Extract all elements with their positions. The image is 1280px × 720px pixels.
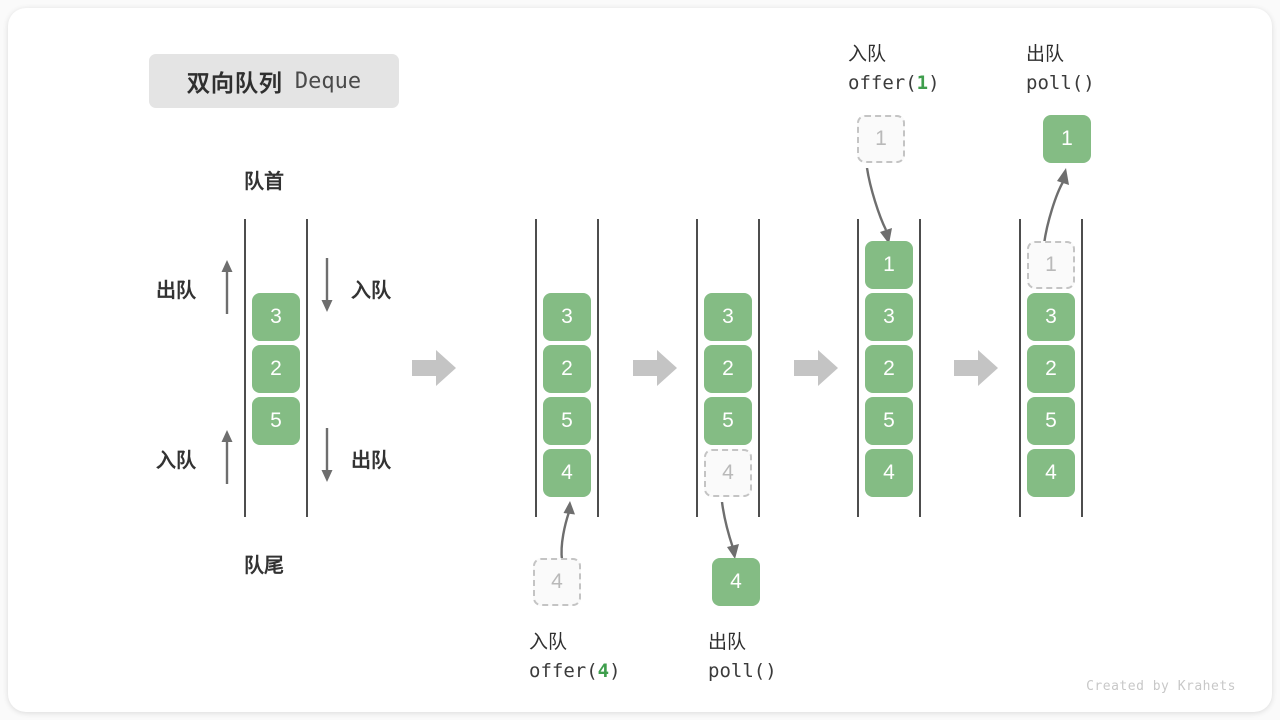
container-wall-left bbox=[696, 219, 698, 517]
container-wall-right bbox=[1081, 219, 1083, 517]
arrow-up-enqueue-tail bbox=[217, 428, 237, 489]
title-english: Deque bbox=[295, 69, 361, 94]
deque-element: 5 bbox=[543, 397, 591, 445]
deque-element: 5 bbox=[704, 397, 752, 445]
step-connector-arrow bbox=[794, 350, 838, 386]
deque-element: 5 bbox=[1027, 397, 1075, 445]
deque-element: 2 bbox=[543, 345, 591, 393]
operation-label-offer-1: 入队 offer(1) bbox=[848, 40, 940, 99]
operation-code-number: 1 bbox=[917, 72, 928, 94]
operation-label-code: poll() bbox=[708, 657, 777, 686]
operation-label-cn: 出队 bbox=[1026, 40, 1095, 69]
deque-element: 3 bbox=[1027, 293, 1075, 341]
deque-element: 4 bbox=[543, 449, 591, 497]
operation-code-prefix: offer( bbox=[848, 72, 917, 94]
arrow-down-enqueue-head bbox=[317, 258, 337, 319]
operation-label-poll-tail: 出队 poll() bbox=[708, 628, 777, 687]
deque-element: 3 bbox=[865, 293, 913, 341]
operation-code-number: 4 bbox=[598, 660, 609, 682]
arrow-up-dequeue-head bbox=[217, 258, 237, 319]
operation-label-code: offer(4) bbox=[529, 657, 621, 686]
deque-element: 2 bbox=[1027, 345, 1075, 393]
title-badge: 双向队列 Deque bbox=[149, 54, 399, 108]
enqueue-tail-label: 入队 bbox=[156, 444, 196, 473]
step-connector-arrow bbox=[954, 350, 998, 386]
operation-code-suffix: ) bbox=[609, 660, 620, 682]
arrow-offer-4-into-tail bbox=[538, 500, 588, 567]
title-chinese: 双向队列 bbox=[187, 64, 283, 98]
operation-label-poll-head: 出队 poll() bbox=[1026, 40, 1095, 99]
container-wall-left bbox=[857, 219, 859, 517]
deque-element: 5 bbox=[865, 397, 913, 445]
operation-code-suffix: ) bbox=[765, 660, 776, 682]
external-element-ghost: 1 bbox=[857, 115, 905, 163]
external-element-ghost: 4 bbox=[533, 558, 581, 606]
container-wall-left bbox=[535, 219, 537, 517]
deque-element: 4 bbox=[865, 449, 913, 497]
deque-element: 3 bbox=[704, 293, 752, 341]
operation-code-prefix: offer( bbox=[529, 660, 598, 682]
dequeue-tail-label: 出队 bbox=[351, 444, 391, 473]
operation-label-offer-4: 入队 offer(4) bbox=[529, 628, 621, 687]
step-connector-arrow bbox=[633, 350, 677, 386]
deque-element: 2 bbox=[704, 345, 752, 393]
container-wall-left bbox=[244, 219, 246, 517]
deque-element: 4 bbox=[1027, 449, 1075, 497]
deque-element: 5 bbox=[252, 397, 300, 445]
operation-label-code: poll() bbox=[1026, 69, 1095, 98]
head-label: 队首 bbox=[244, 165, 284, 194]
diagram-stage: 双向队列 Deque 队首 队尾 3 2 5 出队 入队 入队 出队 bbox=[8, 8, 1272, 712]
operation-label-cn: 出队 bbox=[708, 628, 777, 657]
operation-code-suffix: ) bbox=[1083, 72, 1094, 94]
container-wall-right bbox=[758, 219, 760, 517]
deque-element: 3 bbox=[252, 293, 300, 341]
arrow-down-dequeue-tail bbox=[317, 428, 337, 489]
step-connector-arrow bbox=[412, 350, 456, 386]
container-wall-right bbox=[597, 219, 599, 517]
operation-label-cn: 入队 bbox=[529, 628, 621, 657]
external-element: 4 bbox=[712, 558, 760, 606]
diagram-card: 双向队列 Deque 队首 队尾 3 2 5 出队 入队 入队 出队 bbox=[8, 8, 1272, 712]
arrow-poll-tail-out bbox=[710, 502, 760, 565]
tail-label: 队尾 bbox=[244, 549, 284, 578]
deque-element-ghost: 1 bbox=[1027, 241, 1075, 289]
container-wall-right bbox=[306, 219, 308, 517]
deque-element: 3 bbox=[543, 293, 591, 341]
dequeue-head-label: 出队 bbox=[156, 274, 196, 303]
enqueue-head-label: 入队 bbox=[351, 274, 391, 303]
external-element: 1 bbox=[1043, 115, 1091, 163]
container-wall-right bbox=[919, 219, 921, 517]
operation-code-suffix: ) bbox=[928, 72, 939, 94]
deque-element: 1 bbox=[865, 241, 913, 289]
deque-element-ghost: 4 bbox=[704, 449, 752, 497]
operation-label-cn: 入队 bbox=[848, 40, 940, 69]
deque-element: 2 bbox=[252, 345, 300, 393]
credit-text: Created by Krahets bbox=[1086, 679, 1236, 694]
container-wall-left bbox=[1019, 219, 1021, 517]
operation-label-code: offer(1) bbox=[848, 69, 940, 98]
operation-code-prefix: poll( bbox=[1026, 72, 1083, 94]
deque-element: 2 bbox=[865, 345, 913, 393]
operation-code-prefix: poll( bbox=[708, 660, 765, 682]
